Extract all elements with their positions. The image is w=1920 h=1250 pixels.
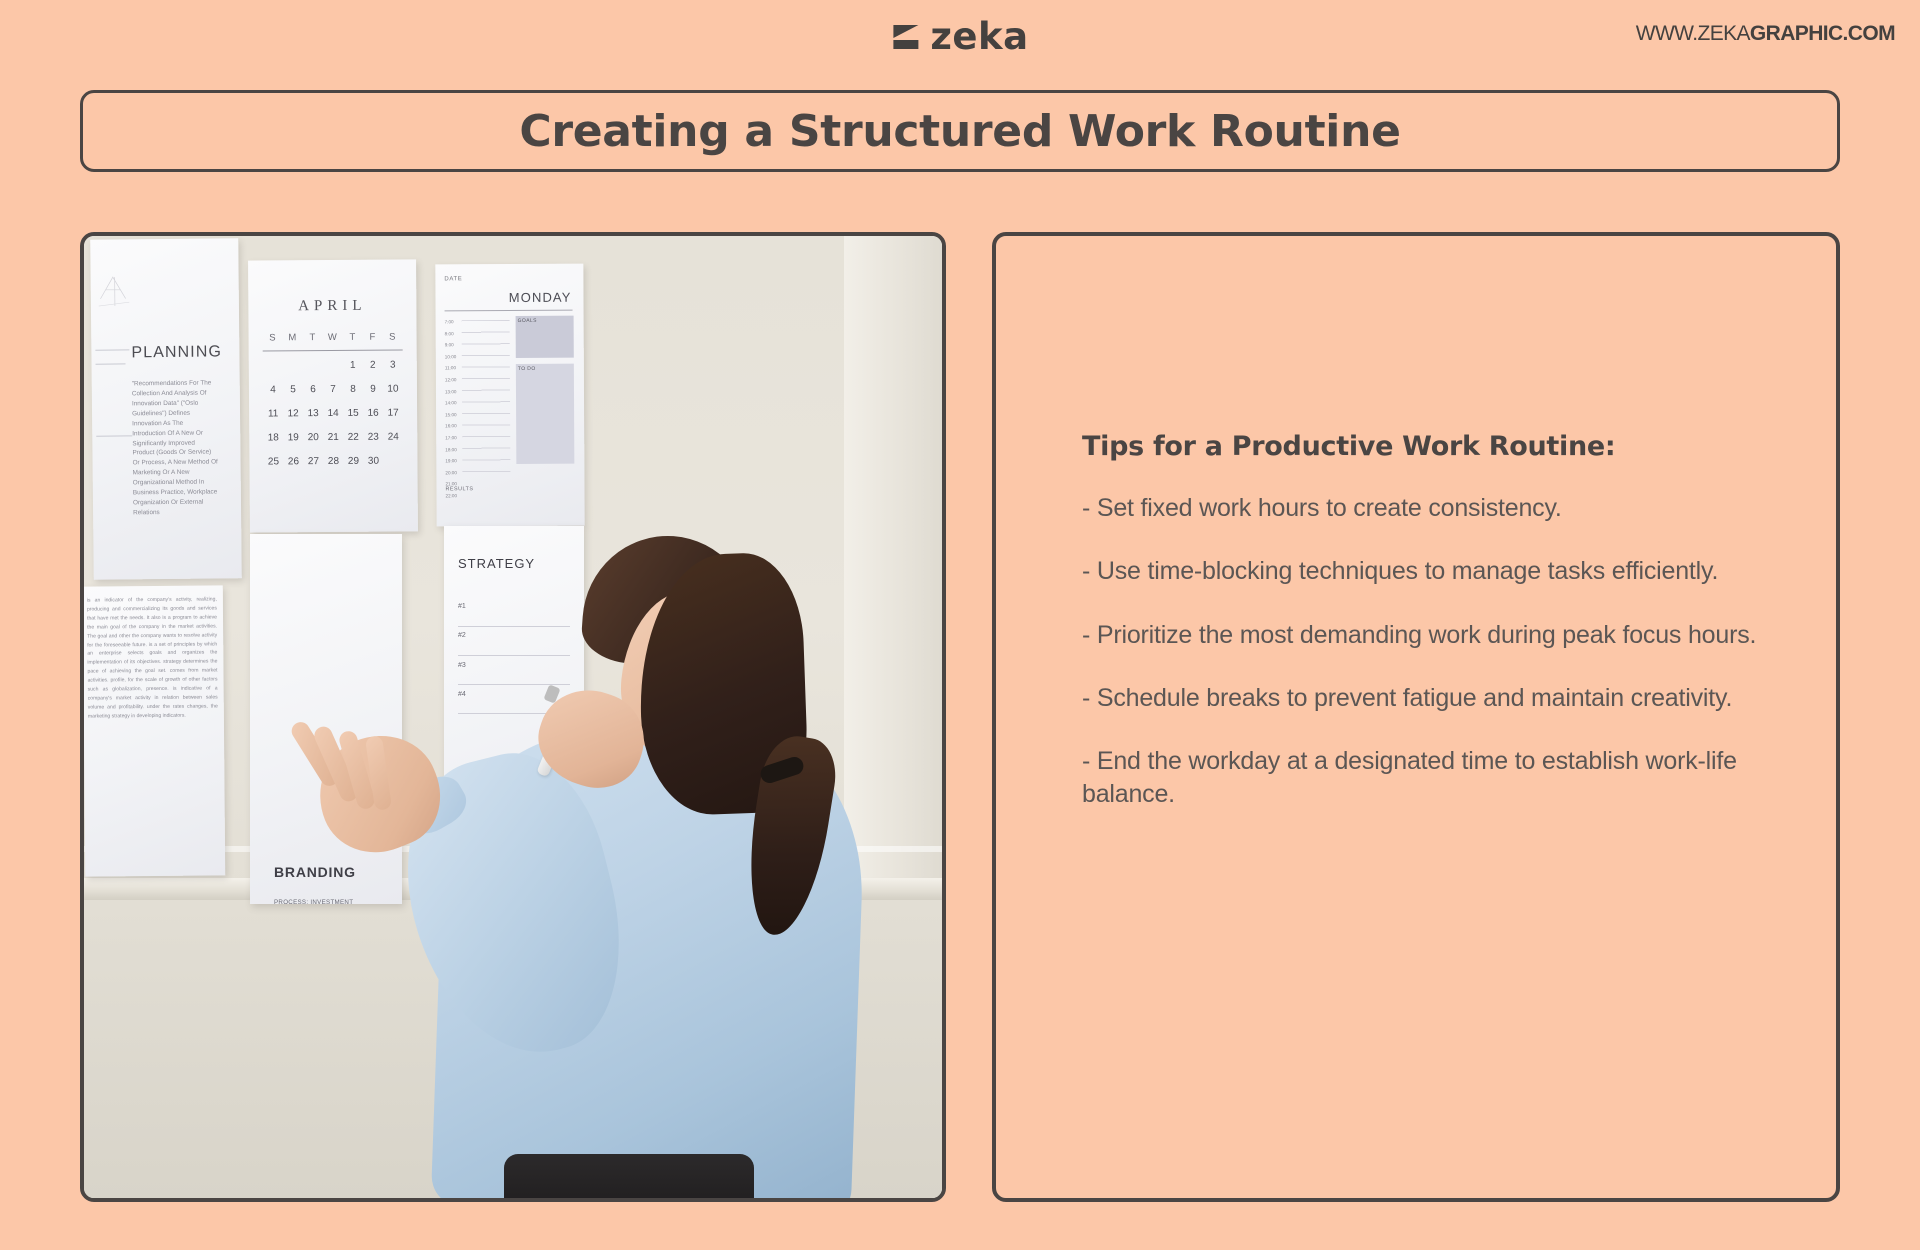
tips-heading: Tips for a Productive Work Routine: (1082, 431, 1772, 462)
tips-list: - Set fixed work hours to create consist… (1082, 492, 1772, 812)
site-url-light: WWW.ZEKA (1636, 22, 1750, 45)
tip-item: - Schedule breaks to prevent fatigue and… (1082, 682, 1772, 715)
tips-content: Tips for a Productive Work Routine: - Se… (1082, 431, 1772, 812)
tip-item: - Set fixed work hours to create consist… (1082, 492, 1772, 525)
photo-panel: PLANNING "Recommendations For The Collec… (80, 232, 946, 1202)
tips-panel: Tips for a Productive Work Routine: - Se… (992, 232, 1840, 1202)
person-figure (84, 236, 942, 1198)
photo-image: PLANNING "Recommendations For The Collec… (84, 236, 942, 1198)
person-skirt (504, 1154, 754, 1198)
tip-item: - End the workday at a designated time t… (1082, 745, 1772, 812)
zeka-mark-icon (891, 22, 921, 52)
tip-item: - Prioritize the most demanding work dur… (1082, 619, 1772, 652)
tip-item: - Use time-blocking techniques to manage… (1082, 555, 1772, 588)
brand-logo[interactable]: zeka (891, 18, 1028, 55)
page-title: Creating a Structured Work Routine (519, 106, 1400, 157)
brand-logo-text: zeka (930, 18, 1028, 55)
site-url-strong: GRAPHIC.COM (1750, 22, 1895, 45)
site-url[interactable]: WWW.ZEKAGRAPHIC.COM (1636, 22, 1895, 46)
title-card: Creating a Structured Work Routine (80, 90, 1840, 172)
page-header: zeka WWW.ZEKAGRAPHIC.COM (0, 0, 1920, 76)
